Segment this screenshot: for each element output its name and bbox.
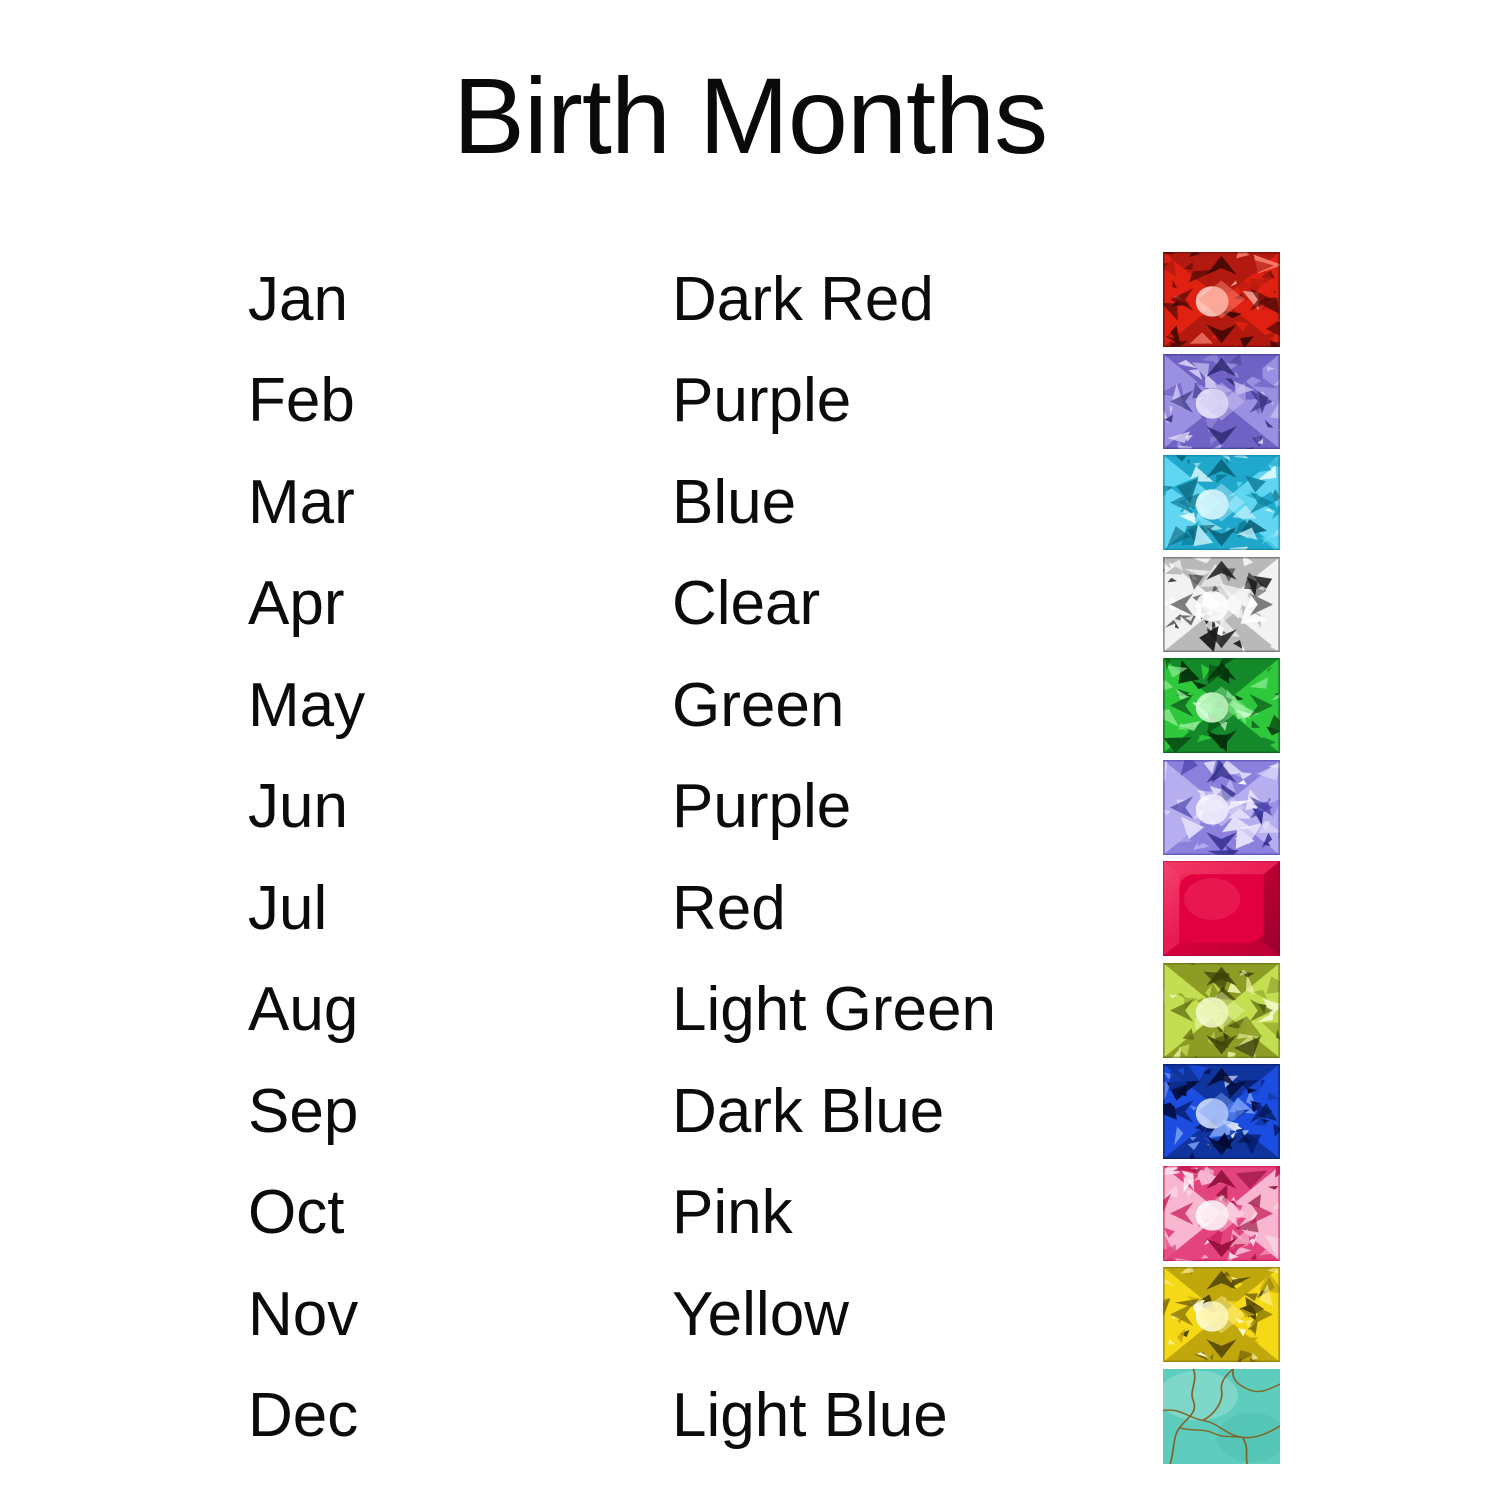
color-label: Green (672, 655, 1152, 757)
amethyst-gem-icon (1163, 354, 1280, 449)
birth-months-page: Birth Months JanDark RedFebPurpleMarBlue… (0, 0, 1500, 1500)
aquamarine-gem-icon (1163, 455, 1280, 550)
table-row: JunPurple (248, 757, 1288, 859)
color-label: Dark Blue (672, 1061, 1152, 1163)
month-label: Jul (248, 858, 648, 960)
diamond-gem-icon (1163, 557, 1280, 652)
table-row: JulRed (248, 858, 1288, 960)
gemstone-cell (1163, 655, 1280, 757)
month-label: Oct (248, 1163, 648, 1265)
color-label: Yellow (672, 1264, 1152, 1366)
alexandrite-gem-icon (1163, 760, 1280, 855)
month-label: Jun (248, 757, 648, 859)
table-row: AprClear (248, 554, 1288, 656)
page-title: Birth Months (0, 62, 1500, 170)
emerald-gem-icon (1163, 658, 1280, 753)
garnet-gem-icon (1163, 252, 1280, 347)
gemstone-cell (1163, 1264, 1280, 1366)
gemstone-cell (1163, 1163, 1280, 1265)
month-label: Apr (248, 554, 648, 656)
color-label: Red (672, 858, 1152, 960)
table-row: NovYellow (248, 1264, 1288, 1366)
gemstone-cell (1163, 1366, 1280, 1468)
turquoise-gem-icon (1163, 1369, 1280, 1464)
gemstone-cell (1163, 960, 1280, 1062)
table-row: AugLight Green (248, 960, 1288, 1062)
month-label: Dec (248, 1366, 648, 1468)
color-label: Dark Red (672, 249, 1152, 351)
gemstone-cell (1163, 452, 1280, 554)
table-row: JanDark Red (248, 249, 1288, 351)
month-label: Aug (248, 960, 648, 1062)
citrine-gem-icon (1163, 1267, 1280, 1362)
tourmaline-gem-icon (1163, 1166, 1280, 1261)
color-label: Pink (672, 1163, 1152, 1265)
color-label: Purple (672, 757, 1152, 859)
table-row: MayGreen (248, 655, 1288, 757)
gemstone-cell (1163, 1061, 1280, 1163)
gemstone-cell (1163, 351, 1280, 453)
table-row: DecLight Blue (248, 1366, 1288, 1468)
gemstone-cell (1163, 858, 1280, 960)
sapphire-gem-icon (1163, 1064, 1280, 1159)
table-row: SepDark Blue (248, 1061, 1288, 1163)
gemstone-cell (1163, 249, 1280, 351)
gemstone-cell (1163, 757, 1280, 859)
color-label: Clear (672, 554, 1152, 656)
gemstone-cell (1163, 554, 1280, 656)
ruby-gem-icon (1163, 861, 1280, 956)
month-label: Sep (248, 1061, 648, 1163)
month-label: Feb (248, 351, 648, 453)
color-label: Blue (672, 452, 1152, 554)
peridot-gem-icon (1163, 963, 1280, 1058)
month-label: Nov (248, 1264, 648, 1366)
table-row: FebPurple (248, 351, 1288, 453)
color-label: Light Blue (672, 1366, 1152, 1468)
color-label: Light Green (672, 960, 1152, 1062)
table-row: OctPink (248, 1163, 1288, 1265)
table-row: MarBlue (248, 452, 1288, 554)
color-label: Purple (672, 351, 1152, 453)
month-label: Mar (248, 452, 648, 554)
month-label: May (248, 655, 648, 757)
birth-months-table: JanDark RedFebPurpleMarBlueAprClearMayGr… (248, 249, 1288, 1467)
month-label: Jan (248, 249, 648, 351)
